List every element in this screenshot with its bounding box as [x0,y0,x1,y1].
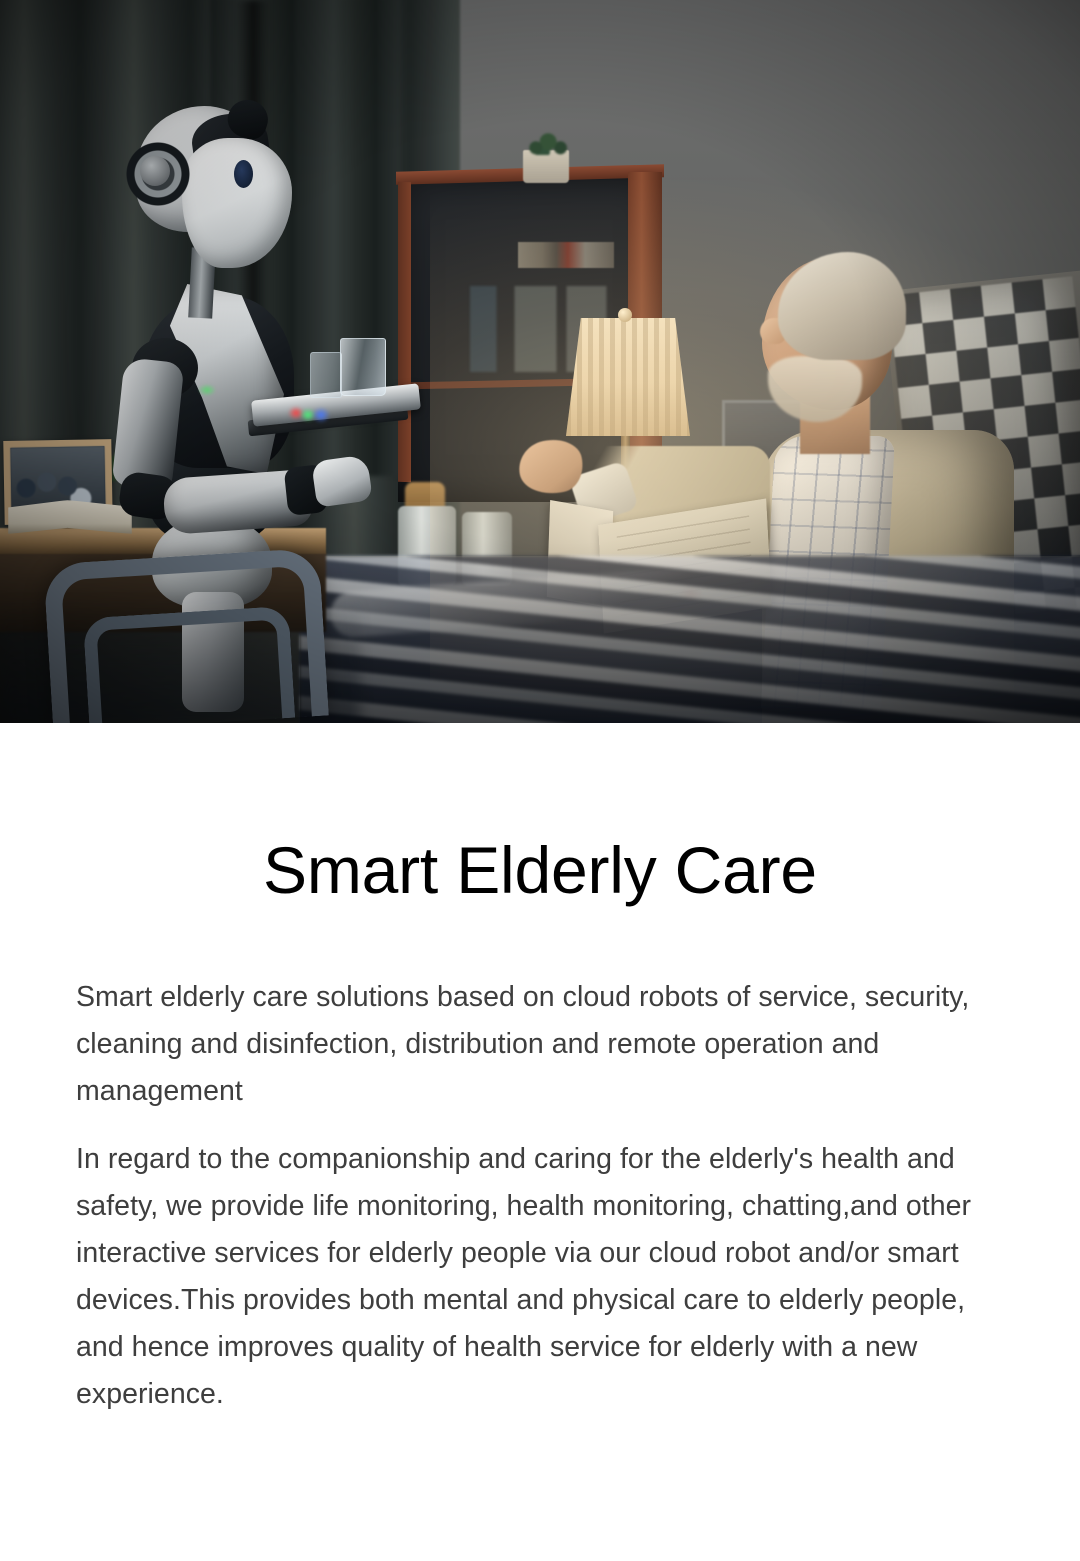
robot-ear-lens [140,156,170,186]
tray-led-blue-icon [312,407,330,423]
bookshelf-left-panel [398,182,411,482]
water-glass-small [310,352,342,398]
hero-scene [0,0,1080,723]
robot-hand [311,454,373,507]
article-paragraph-1: Smart elderly care solutions based on cl… [76,974,1010,1115]
robot-eye-icon [234,160,253,188]
bookshelf-books [518,242,614,268]
duvet-shading [300,556,1080,723]
page-root: Smart Elderly Care Smart elderly care so… [0,0,1080,1561]
article-body: Smart elderly care solutions based on cl… [0,974,1080,1418]
robot-face [182,138,292,268]
bed-rail-inner [83,606,295,723]
article-content: Smart Elderly Care Smart elderly care so… [0,723,1080,1418]
page-title: Smart Elderly Care [0,723,1080,903]
article-paragraph-2: In regard to the companionship and carin… [76,1136,1010,1418]
lamp-finial [618,308,632,322]
robot-status-led-icon [198,384,216,396]
lamp-shade [566,318,690,436]
potted-plant-icon [519,131,575,155]
hero-photo [0,0,1080,723]
water-glass [340,338,386,396]
